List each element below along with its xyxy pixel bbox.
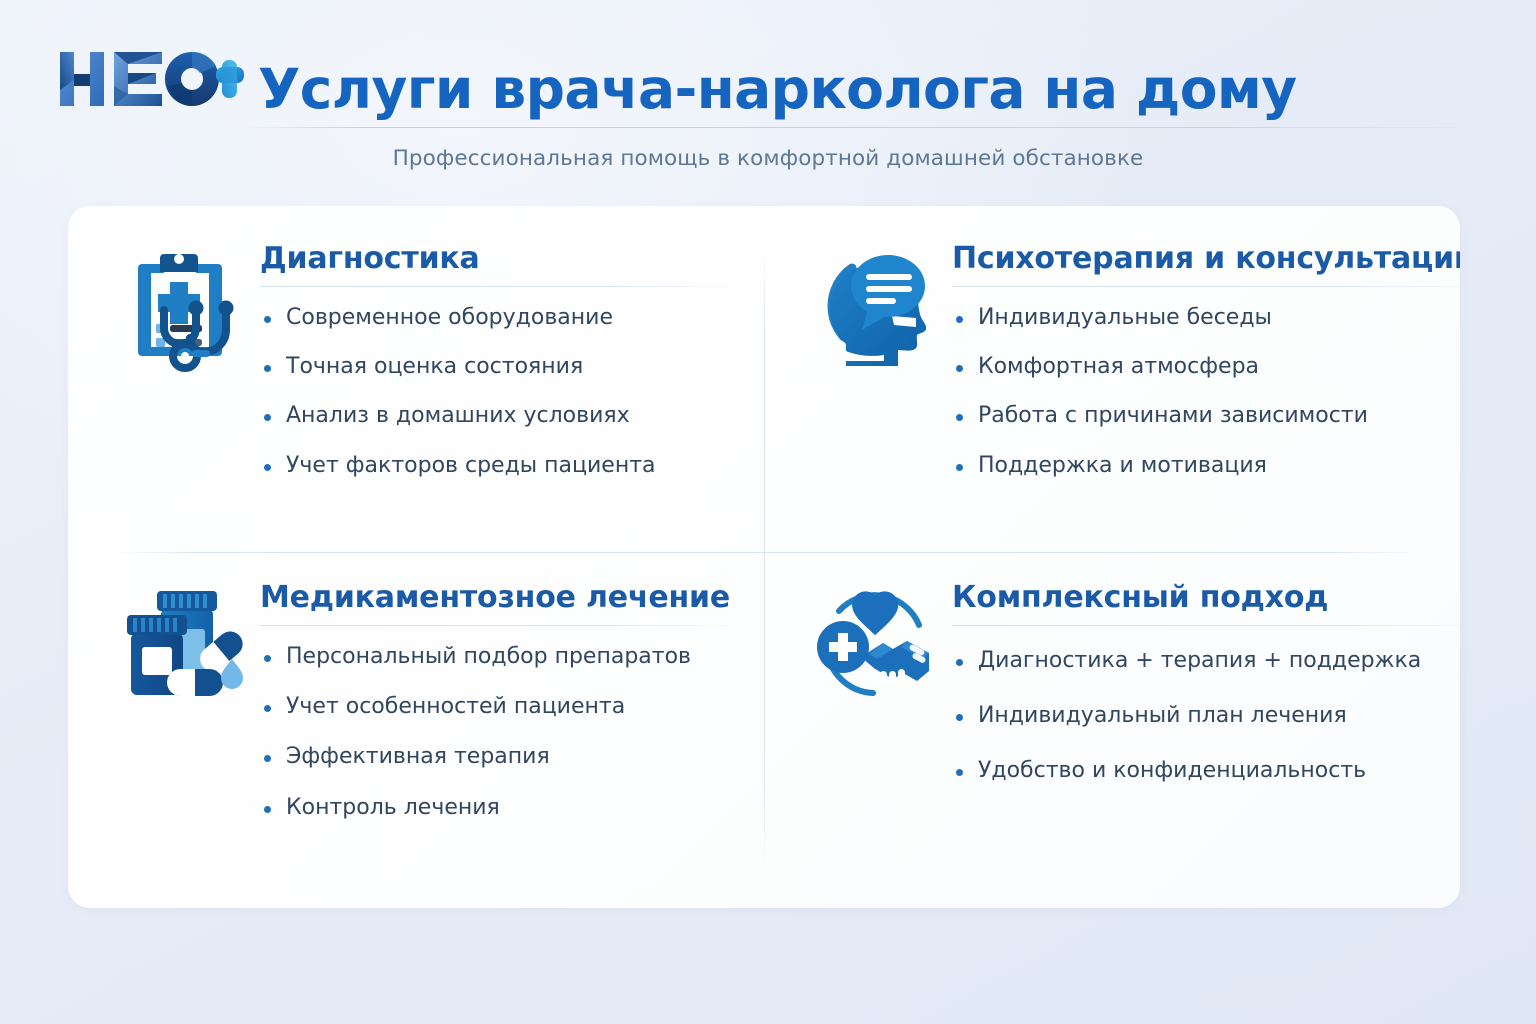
icon-container [110,240,260,374]
list-item: Точная оценка состояния [260,354,730,380]
services-board: Диагностика Современное оборудование Точ… [68,206,1460,908]
list-item: Персональный подбор препаратов [260,644,730,670]
list-item: Эффективная терапия [260,744,730,770]
page-title: Услуги врача-нарколога на дому [258,62,1297,117]
list-item: Индивидуальный план лечения [952,703,1460,729]
service-card-diagnostics[interactable]: Диагностика Современное оборудование Точ… [68,206,760,557]
list-item: Работа с причинами зависимости [952,403,1460,429]
card-body: Психотерапия и консультации Индивидуальн… [952,240,1460,502]
card-title: Медикаментозное лечение [260,581,730,615]
pill-bottles-capsules-icon [119,585,251,703]
icon-container [802,240,952,374]
list-item: Удобство и конфиденциальность [952,758,1460,784]
clipboard-stethoscope-icon [126,246,244,374]
brand-row: Услуги врача-нарколога на дому [58,42,1297,117]
card-title-underline [952,286,1460,287]
service-card-psychotherapy[interactable]: Психотерапия и консультации Индивидуальн… [760,206,1460,557]
card-title-underline [260,625,730,626]
neo-plus-logo-icon [58,46,244,112]
card-body: Комплексный подход Диагностика + терапия… [952,579,1460,814]
horizontal-divider [112,552,1416,553]
list-item: Анализ в домашних условиях [260,403,730,429]
card-title: Диагностика [260,242,730,276]
card-title: Психотерапия и консультации [952,242,1460,276]
card-bullet-list: Современное оборудование Точная оценка с… [260,305,730,480]
head-speech-bubble-icon [816,246,938,374]
list-item: Контроль лечения [260,795,730,821]
header-divider [240,127,1456,128]
card-bullet-list: Диагностика + терапия + поддержка Индиви… [952,648,1460,785]
card-bullet-list: Персональный подбор препаратов Учет особ… [260,644,730,822]
page-header: Услуги врача-нарколога на дому Профессио… [0,0,1536,200]
card-bullet-list: Индивидуальные беседы Комфортная атмосфе… [952,305,1460,480]
list-item: Диагностика + терапия + поддержка [952,648,1460,674]
service-card-medication[interactable]: Медикаментозное лечение Персональный под… [68,557,760,908]
card-title: Комплексный подход [952,581,1460,615]
list-item: Поддержка и мотивация [952,453,1460,479]
list-item: Комфортная атмосфера [952,354,1460,380]
service-card-comprehensive[interactable]: Комплексный подход Диагностика + терапия… [760,557,1460,908]
card-title-underline [952,625,1460,626]
heart-handshake-cross-icon [809,585,945,701]
list-item: Современное оборудование [260,305,730,331]
card-title-underline [260,286,730,287]
vertical-divider [764,244,765,870]
list-item: Учет факторов среды пациента [260,453,730,479]
icon-container [110,579,260,703]
list-item: Индивидуальные беседы [952,305,1460,331]
card-body: Медикаментозное лечение Персональный под… [260,579,730,845]
icon-container [802,579,952,701]
card-body: Диагностика Современное оборудование Точ… [260,240,730,502]
list-item: Учет особенностей пациента [260,694,730,720]
page-subtitle: Профессиональная помощь в комфортной дом… [0,146,1536,171]
